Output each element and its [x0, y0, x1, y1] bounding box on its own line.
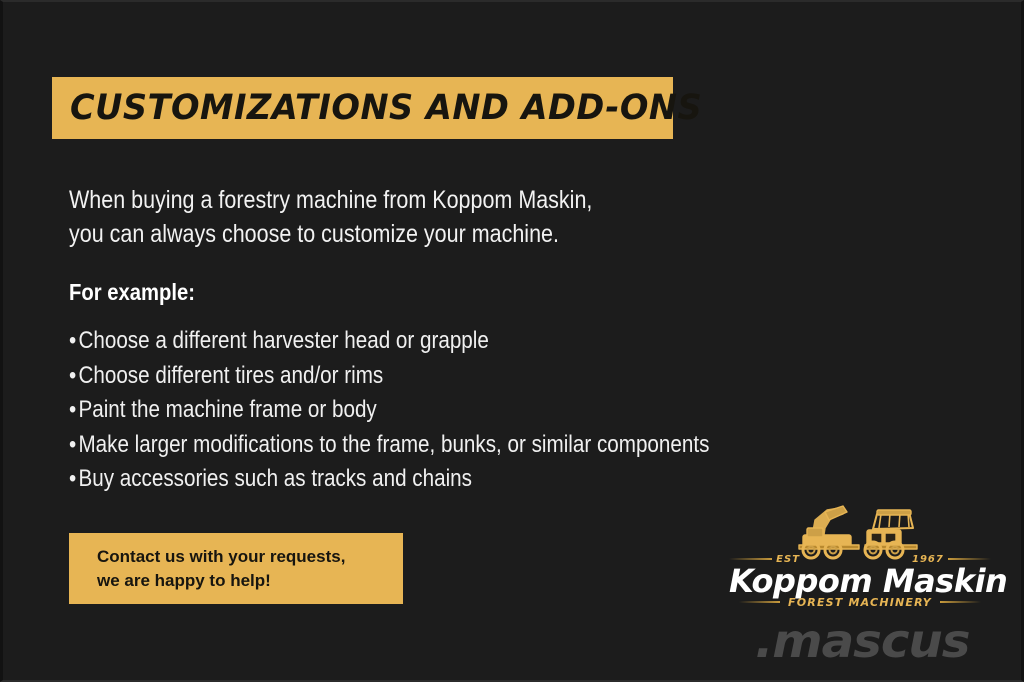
list-item: •Buy accessories such as tracks and chai…	[69, 462, 709, 497]
list-item-label: Make larger modifications to the frame, …	[78, 431, 709, 458]
contact-line-1: Contact us with your requests,	[97, 545, 403, 569]
tagline-divider-left	[739, 601, 780, 603]
for-example-label: For example:	[69, 279, 195, 306]
page-title: CUSTOMIZATIONS AND ADD-ONS	[70, 88, 702, 128]
title-banner: CUSTOMIZATIONS AND ADD-ONS	[52, 77, 673, 139]
promo-slide: CUSTOMIZATIONS AND ADD-ONS When buying a…	[0, 0, 1024, 682]
list-item: •Paint the machine frame or body	[69, 393, 709, 428]
divider-left	[729, 558, 772, 560]
tagline-divider-right	[940, 601, 981, 603]
list-item-label: Buy accessories such as tracks and chain…	[78, 465, 471, 492]
list-item: •Choose different tires and/or rims	[69, 359, 709, 394]
list-item: •Make larger modifications to the frame,…	[69, 428, 709, 463]
logo-tagline: FOREST MACHINERY	[780, 596, 940, 609]
logo-tagline-row: FOREST MACHINERY	[739, 595, 981, 609]
list-item-label: Paint the machine frame or body	[78, 396, 376, 423]
bullet-icon: •	[69, 462, 78, 497]
bullet-icon: •	[69, 393, 78, 428]
koppom-maskin-logo: EST 1967 Koppom Maskin FOREST MACHINERY	[729, 502, 991, 610]
intro-paragraph: When buying a forestry machine from Kopp…	[69, 183, 723, 251]
bullet-icon: •	[69, 324, 78, 359]
intro-line-1: When buying a forestry machine from Kopp…	[69, 183, 723, 217]
bullet-icon: •	[69, 359, 78, 394]
mascus-watermark: .mascus	[755, 614, 969, 668]
divider-right	[948, 558, 991, 560]
intro-line-2: you can always choose to customize your …	[69, 217, 723, 251]
customization-list: •Choose a different harvester head or gr…	[69, 324, 709, 497]
list-item-label: Choose different tires and/or rims	[78, 362, 383, 389]
list-item: •Choose a different harvester head or gr…	[69, 324, 709, 359]
list-item-label: Choose a different harvester head or gra…	[78, 327, 488, 354]
contact-line-2: we are happy to help!	[97, 569, 403, 593]
contact-cta-box[interactable]: Contact us with your requests, we are ha…	[69, 533, 403, 604]
bullet-icon: •	[69, 428, 78, 463]
